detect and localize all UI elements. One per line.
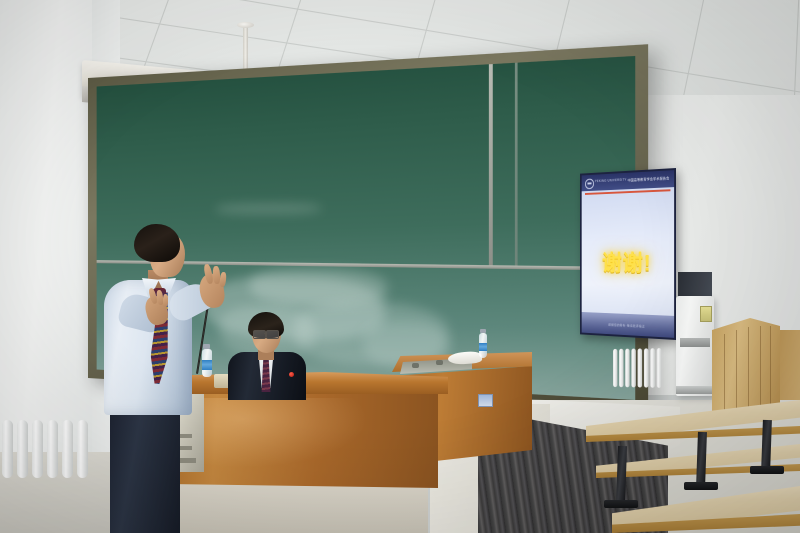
ceiling-hanger-rod — [243, 24, 248, 72]
partition-groove — [724, 334, 725, 414]
radiator-fin — [613, 349, 617, 387]
air-conditioner-label — [700, 306, 712, 322]
radiator-fin — [638, 348, 643, 387]
tray-knob[interactable] — [436, 360, 443, 365]
ceiling-hanger-cap — [237, 22, 254, 28]
chalk-smudge — [216, 203, 322, 214]
air-conditioner-vent — [680, 338, 710, 347]
desk-info-label — [478, 394, 493, 407]
radiator-fin — [625, 349, 629, 388]
eyeglasses-icon — [253, 330, 266, 339]
projection-screen-surface: PEKING UNIVERSITY 中国高等教育学会学术报告会 谢谢! 感谢您的… — [582, 170, 674, 338]
bottle-label — [202, 360, 212, 370]
partition-groove — [770, 326, 771, 414]
partition-groove — [760, 326, 761, 414]
radiator-fin — [619, 349, 623, 387]
bench-foot — [604, 500, 638, 508]
air-conditioner-base — [676, 386, 714, 394]
row-partition — [712, 318, 780, 418]
projection-screen[interactable]: PEKING UNIVERSITY 中国高等教育学会学术报告会 谢谢! 感谢您的… — [580, 168, 676, 340]
partition-groove — [748, 327, 749, 414]
wall-display-unit — [678, 272, 712, 298]
bottle-label — [479, 343, 487, 351]
radiator-fin — [657, 348, 662, 388]
bench-foot — [684, 482, 718, 490]
bench-foot — [750, 466, 784, 474]
lapel-pin-icon — [289, 372, 294, 377]
eyeglasses-icon — [266, 330, 279, 339]
slide-thanks-text: 谢谢! — [582, 244, 674, 278]
partition-groove — [736, 330, 737, 414]
radiator-fin — [650, 348, 655, 388]
radiator-fin — [62, 420, 73, 478]
speaker-trousers — [110, 405, 180, 533]
chalkboard-seam-vertical — [489, 64, 493, 265]
radiator-fin — [2, 420, 13, 478]
radiator-fin — [644, 348, 649, 387]
podium-highlight — [188, 398, 368, 468]
speaker-finger — [163, 294, 168, 307]
bench-leg — [761, 420, 772, 472]
radiator-fin — [17, 420, 28, 478]
radiator-fin — [32, 420, 43, 478]
university-logo-icon — [585, 178, 594, 189]
radiator-fin — [47, 420, 58, 478]
chalkboard-seam-vertical — [515, 63, 518, 266]
speaker-hair — [134, 224, 180, 262]
eyeglasses-bridge — [264, 333, 267, 334]
lecture-hall-photo: PEKING UNIVERSITY 中国高等教育学会学术报告会 谢谢! 感谢您的… — [0, 0, 800, 533]
radiator-fin — [631, 349, 635, 388]
radiator-left — [0, 420, 92, 478]
tray-knob[interactable] — [412, 363, 419, 368]
radiator-right — [612, 348, 668, 388]
radiator-fin — [77, 420, 88, 478]
